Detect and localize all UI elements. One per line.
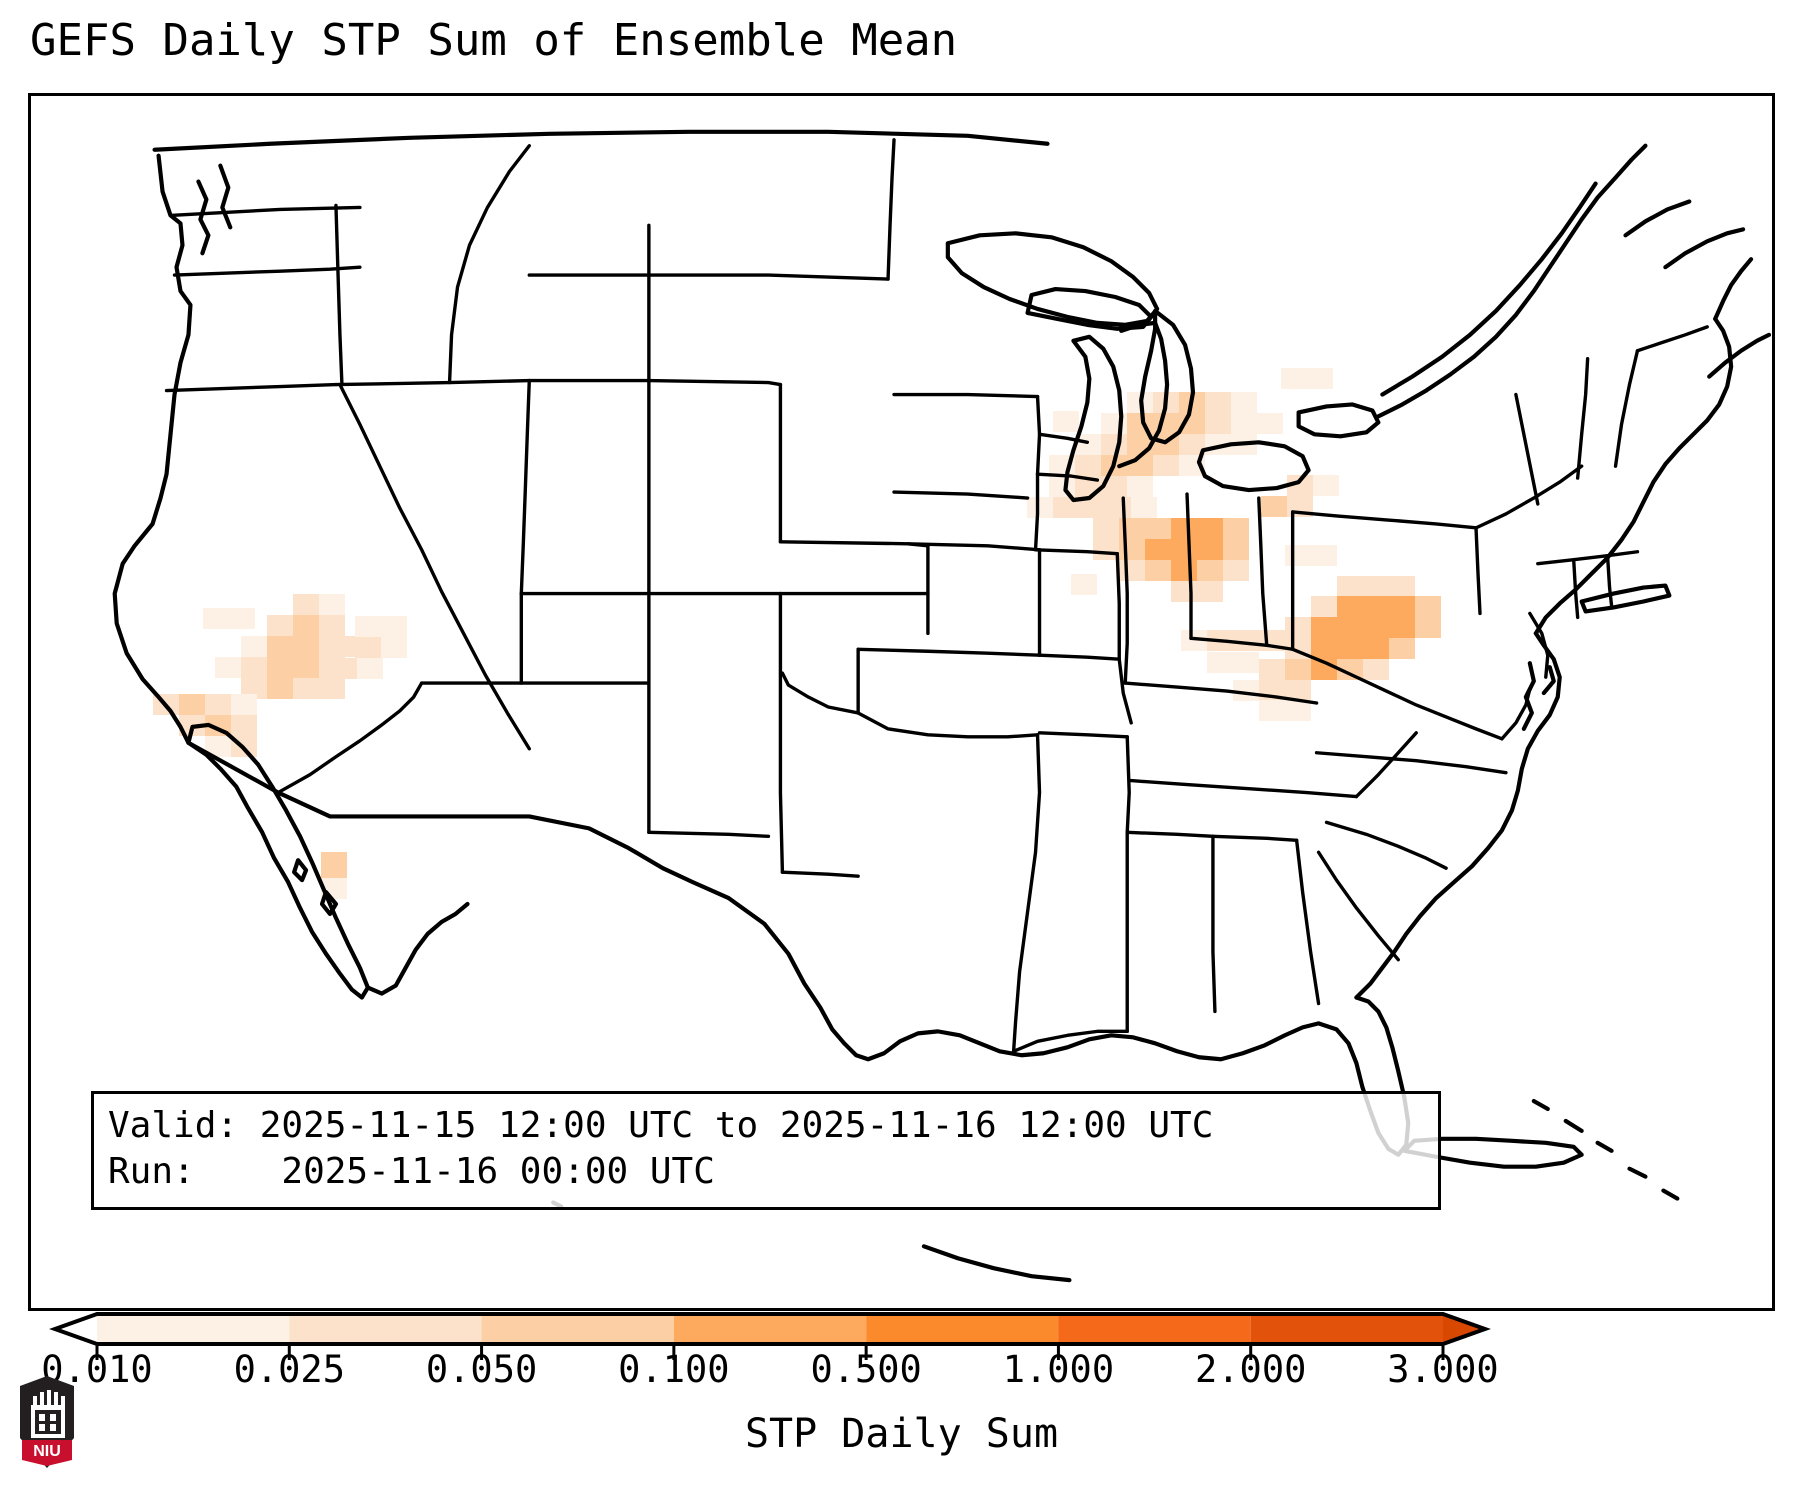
run-time-line: Run: 2025-11-16 00:00 UTC <box>108 1149 1424 1195</box>
colorbar-tick-label: 0.500 <box>810 1348 921 1392</box>
colorbar-band <box>289 1314 481 1344</box>
forecast-info-box: Valid: 2025-11-15 12:00 UTC to 2025-11-1… <box>91 1091 1441 1210</box>
colorbar-tick-label: 1.000 <box>1003 1348 1114 1392</box>
map-panel[interactable]: Valid: 2025-11-15 12:00 UTC to 2025-11-1… <box>28 93 1775 1311</box>
colorbar-band <box>482 1314 674 1344</box>
colorbar-band <box>674 1314 866 1344</box>
colorbar-band <box>97 1314 289 1344</box>
colorbar[interactable]: 0.0100.0250.0500.1000.5001.0002.0003.000… <box>0 1306 1803 1500</box>
colorbar-bands <box>55 1314 1485 1344</box>
colorbar-under-arrow <box>55 1314 97 1344</box>
colorbar-tick-label: 3.000 <box>1387 1348 1498 1392</box>
colorbar-tick-label: 0.100 <box>618 1348 729 1392</box>
colorbar-tick-label: 0.025 <box>234 1348 345 1392</box>
colorbar-band <box>866 1314 1058 1344</box>
niu-logo: NIU <box>16 1374 78 1470</box>
state-borders-layer <box>167 140 1708 1051</box>
niu-logo-text: NIU <box>33 1443 61 1460</box>
colorbar-tick-label: 2.000 <box>1195 1348 1306 1392</box>
colorbar-over-arrow <box>1443 1314 1485 1344</box>
colorbar-tick-label: 0.050 <box>426 1348 537 1392</box>
page-title: GEFS Daily STP Sum of Ensemble Mean <box>30 14 957 68</box>
valid-time-line: Valid: 2025-11-15 12:00 UTC to 2025-11-1… <box>108 1103 1424 1149</box>
colorbar-band <box>1058 1314 1250 1344</box>
colorbar-axis-label: STP Daily Sum <box>0 1410 1803 1458</box>
colorbar-band <box>1251 1314 1443 1344</box>
